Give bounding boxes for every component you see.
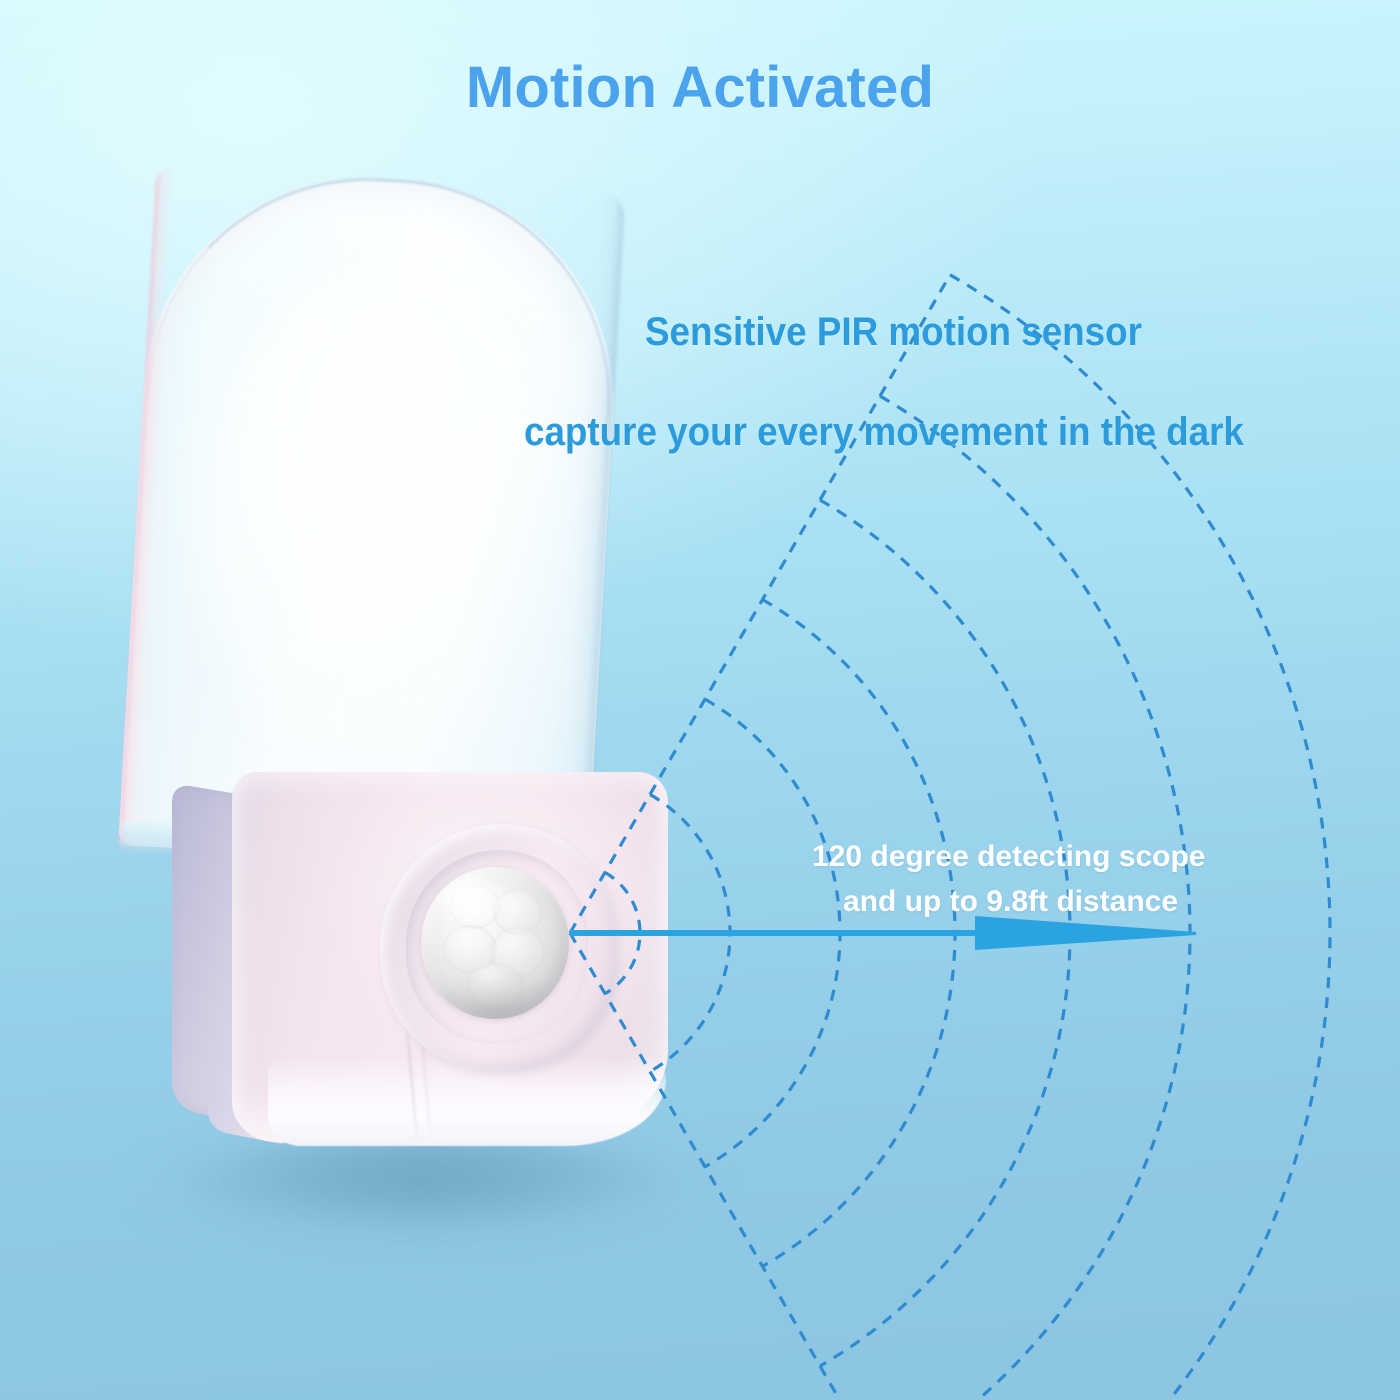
callout-line-1: 120 degree detecting scope (812, 840, 1206, 874)
distance-arrow (570, 916, 1196, 950)
feature-line-2: capture your every movement in the dark (524, 410, 1244, 455)
detection-cone-diagram (0, 0, 1400, 1400)
feature-line-1: Sensitive PIR motion sensor (645, 310, 1142, 355)
cone-boundary-ray (570, 933, 950, 1400)
page-title: Motion Activated (0, 54, 1400, 121)
cone-boundary-ray (570, 275, 950, 933)
arrow-head-icon (975, 916, 1196, 950)
callout-line-2: and up to 9.8ft distance (843, 885, 1178, 919)
product-marketing-image: Motion Activated Sensitive PIR motion se… (0, 0, 1400, 1400)
